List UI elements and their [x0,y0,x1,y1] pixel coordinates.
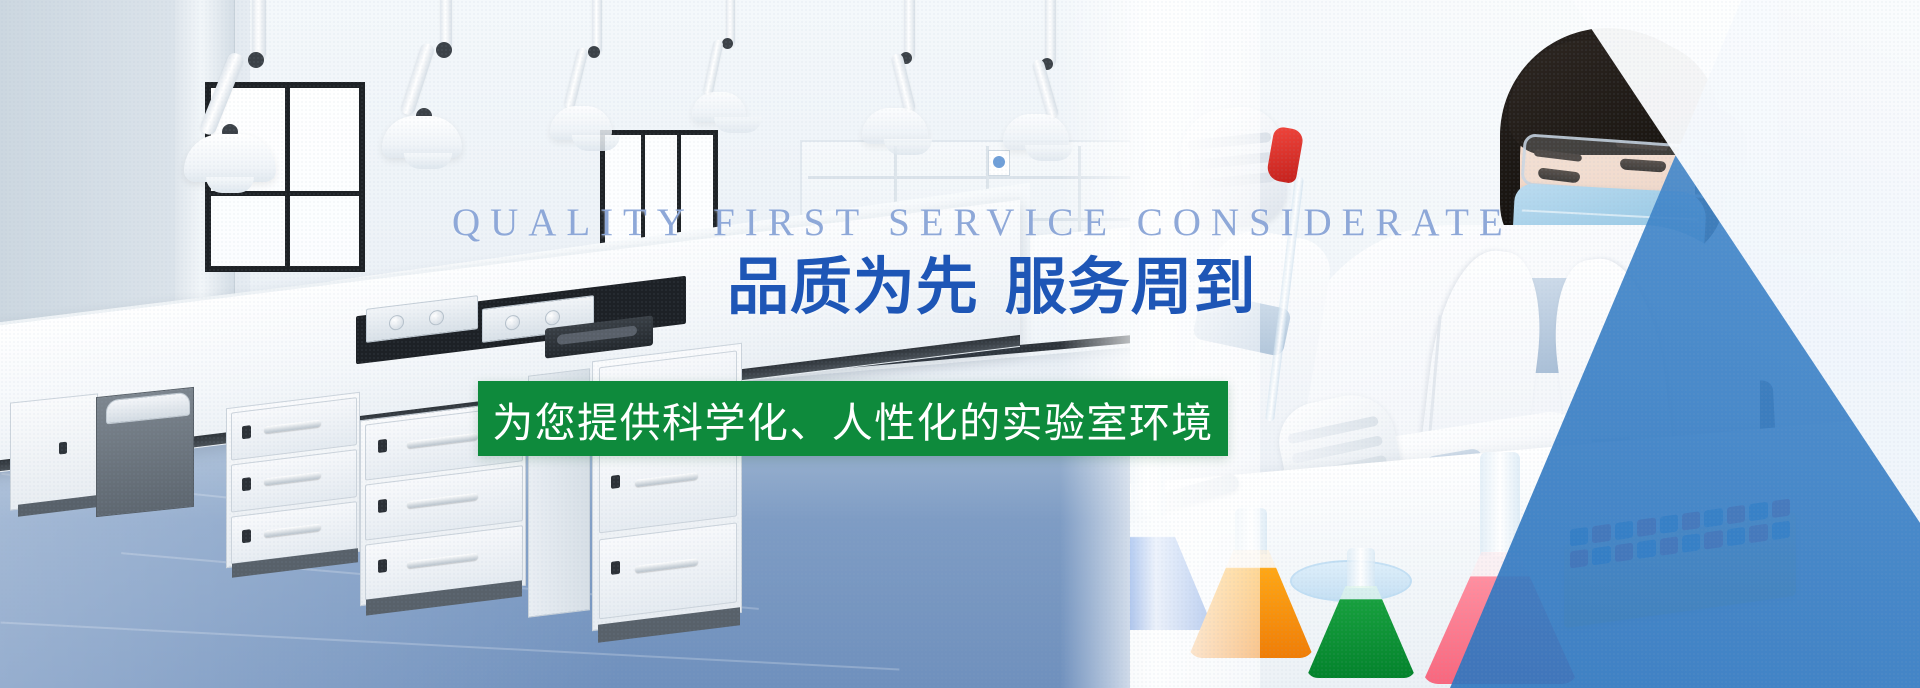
lamp-shade-icon [692,92,746,122]
drawer-lock-icon [611,561,620,575]
drawer-lock-icon [242,529,251,543]
flask-neck [1347,548,1375,588]
green-ribbon-banner: 为您提供科学化、人性化的实验室环境 [478,381,1228,456]
scientist-photo [1130,0,1920,688]
drawer-lock-icon [378,559,387,573]
erlenmeyer-flask-green [1306,548,1416,678]
headline-part-2: 服务周到 [1005,250,1257,323]
english-tagline: QUALITY FIRST SERVICE CONSIDERATE [452,203,1513,242]
valve-knob-icon[interactable] [429,309,444,326]
drawer-cabinet [226,392,360,568]
valve-knob-icon[interactable] [389,314,404,331]
safety-sign-icon [988,150,1010,176]
cabinet-lock-icon [59,442,67,455]
cabinet-drawer[interactable] [599,522,737,619]
valve-knob-icon[interactable] [545,309,560,326]
drawer-lock-icon [378,499,387,513]
flask-neck [1235,508,1267,554]
side-cabinet [10,393,98,510]
drawer-lock-icon [242,425,251,439]
drawer-lock-icon [242,477,251,491]
headline: 品质为先服务周到 [727,250,1256,323]
lamp-shade-icon [184,134,276,182]
valve-knob-icon[interactable] [505,314,520,331]
drawer-handle[interactable] [264,472,321,486]
laboratory-interior-photo [0,0,1180,688]
erlenmeyer-flask-orange [1188,508,1314,658]
flask-body [1306,586,1416,678]
drawer-handle[interactable] [635,472,698,487]
ribbon-text: 为您提供科学化、人性化的实验室环境 [492,389,1213,449]
drawer-handle[interactable] [264,524,321,538]
accent-line [1759,120,1920,344]
hero-banner: QUALITY FIRST SERVICE CONSIDERATE 品质为先服务… [0,0,1920,688]
drawer-handle[interactable] [635,558,698,573]
drawer-handle[interactable] [407,432,479,448]
drawer-handle[interactable] [264,420,321,434]
accent-line [1450,0,1920,41]
drawer-lock-icon [378,439,387,453]
shelf [808,176,1162,179]
drawer-lock-icon [611,475,620,489]
headline-part-1: 品质为先 [727,250,979,323]
lamp-shade-icon [382,116,462,158]
window-mullion [285,88,290,266]
flask-body [1188,550,1314,658]
drawer-handle[interactable] [407,492,479,508]
drawer-handle[interactable] [407,552,479,568]
